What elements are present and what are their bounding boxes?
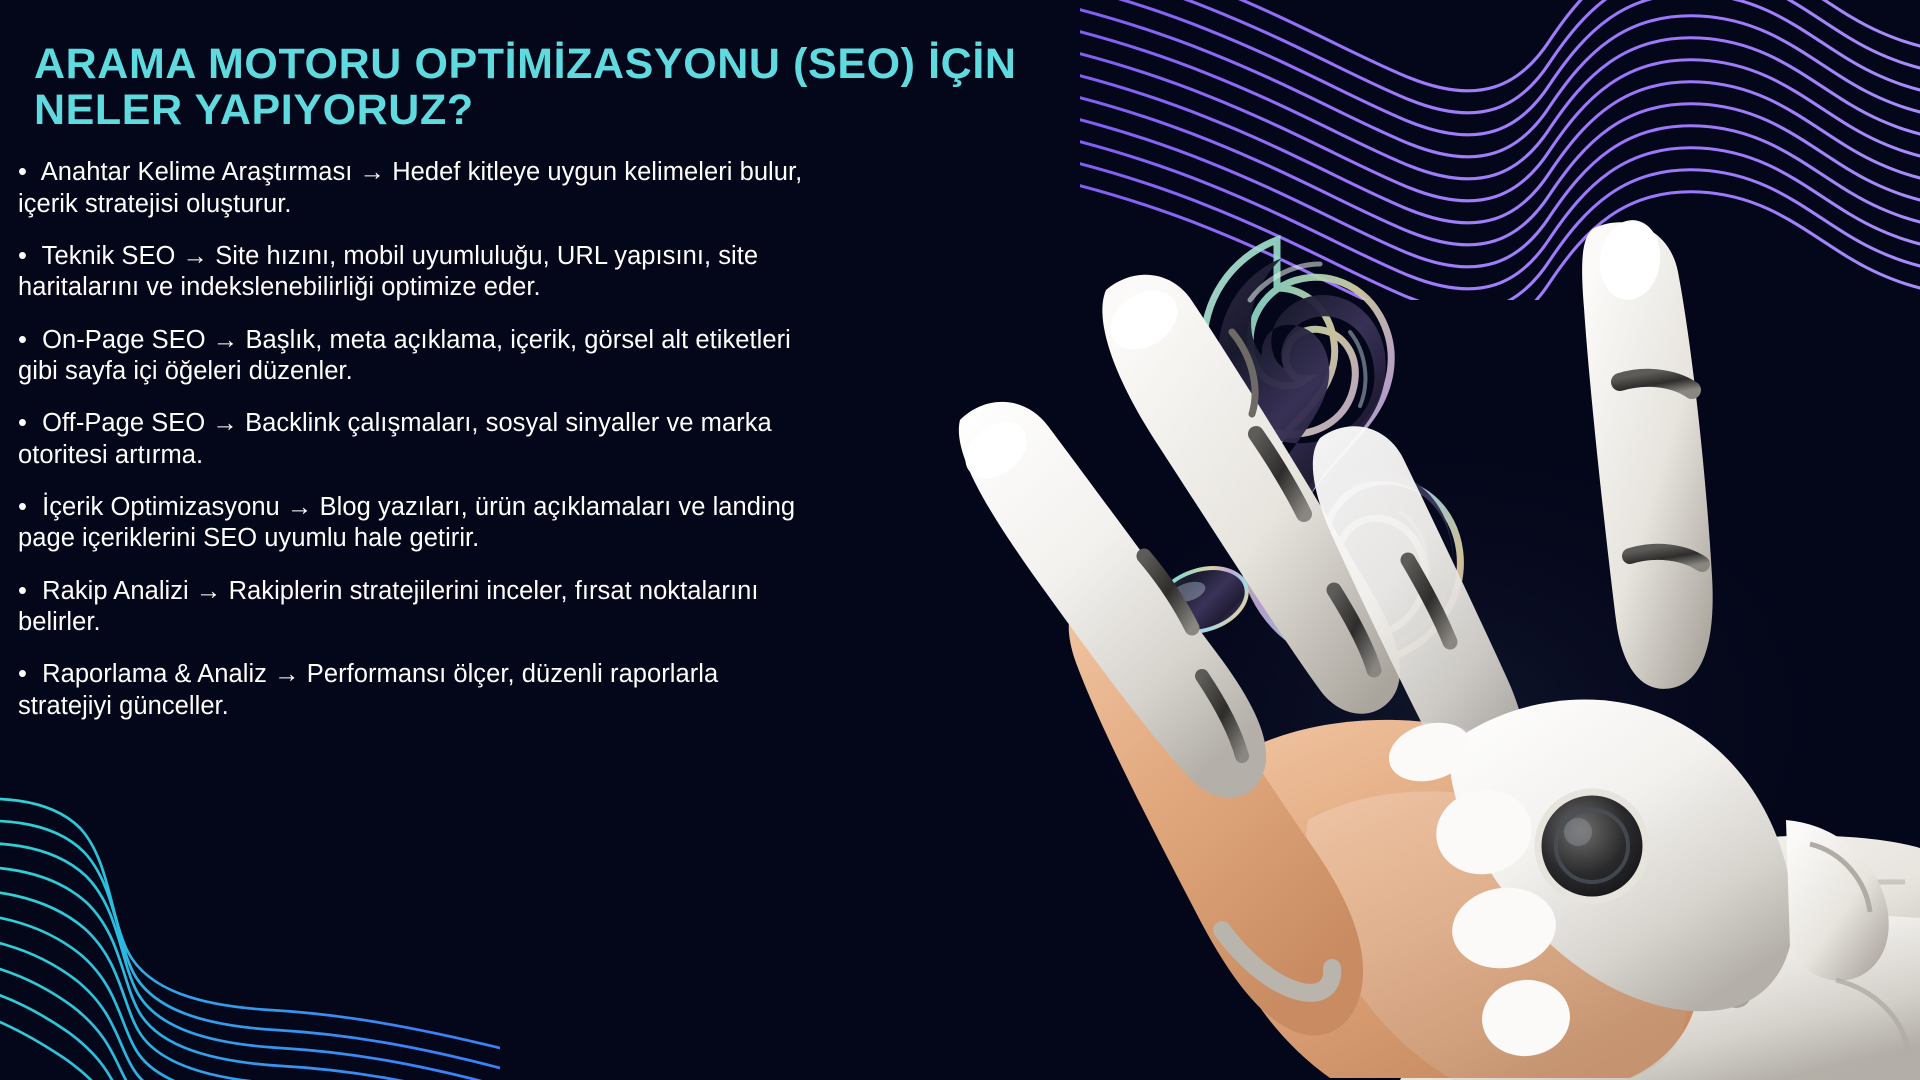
bullet-marker-icon: •: [18, 577, 27, 605]
list-item-text: On-Page SEO → Başlık, meta açıklama, içe…: [18, 326, 791, 385]
slide-content: ARAMA MOTORU OPTİMİZASYONU (SEO) İÇİN NE…: [0, 0, 1000, 1080]
list-item-text: İçerik Optimizasyonu → Blog yazıları, ür…: [18, 493, 795, 552]
list-item: • Off-Page SEO → Backlink çalışmaları, s…: [18, 408, 808, 471]
slide-canvas: ARAMA MOTORU OPTİMİZASYONU (SEO) İÇİN NE…: [0, 0, 1920, 1080]
list-item-text: Raporlama & Analiz → Performansı ölçer, …: [18, 660, 718, 719]
list-item-text: Rakip Analizi → Rakiplerin stratejilerin…: [18, 577, 758, 636]
list-item: • On-Page SEO → Başlık, meta açıklama, i…: [18, 325, 808, 388]
list-item-text: Teknik SEO → Site hızını, mobil uyumlulu…: [18, 242, 758, 301]
robotic-hand-with-bubble-question-mark: [930, 120, 1920, 1080]
list-item: • Rakip Analizi → Rakiplerin stratejiler…: [18, 576, 808, 639]
bullet-marker-icon: •: [18, 660, 27, 688]
bullet-marker-icon: •: [18, 326, 27, 354]
list-item-text: Anahtar Kelime Araştırması → Hedef kitle…: [18, 158, 802, 217]
purple-wave-lines: [1080, 0, 1920, 300]
bullet-marker-icon: •: [18, 242, 27, 270]
seo-services-list: • Anahtar Kelime Araştırması → Hedef kit…: [18, 157, 808, 722]
list-item: • Teknik SEO → Site hızını, mobil uyumlu…: [18, 241, 808, 304]
bullet-marker-icon: •: [18, 158, 27, 186]
bubble-question-mark: [1102, 240, 1461, 722]
list-item: • İçerik Optimizasyonu → Blog yazıları, …: [18, 492, 808, 555]
page-title: ARAMA MOTORU OPTİMİZASYONU (SEO) İÇİN NE…: [34, 42, 1044, 133]
list-item: • Raporlama & Analiz → Performansı ölçer…: [18, 659, 808, 722]
bullet-marker-icon: •: [18, 493, 27, 521]
list-item: • Anahtar Kelime Araştırması → Hedef kit…: [18, 157, 808, 220]
robot-hand: [954, 216, 1920, 1080]
bullet-marker-icon: •: [18, 409, 27, 437]
list-item-text: Off-Page SEO → Backlink çalışmaları, sos…: [18, 409, 772, 468]
